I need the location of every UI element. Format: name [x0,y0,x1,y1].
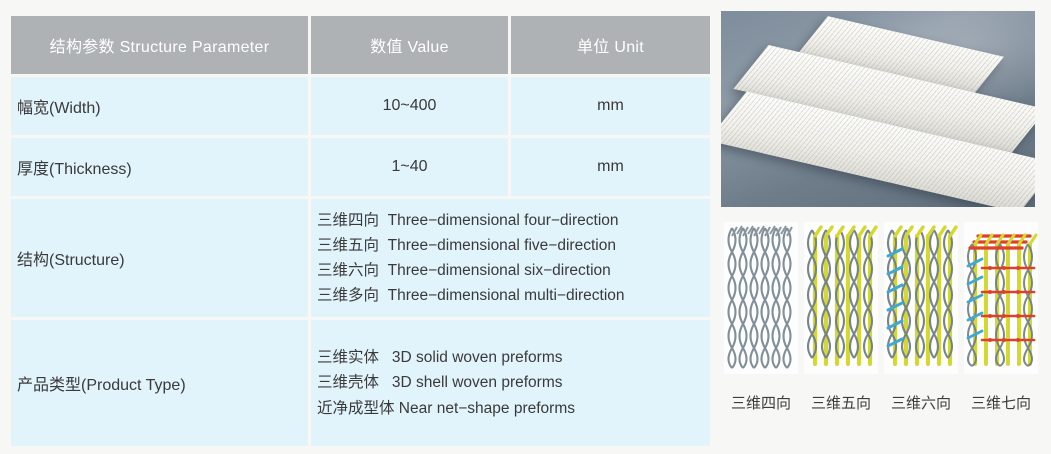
product-option-shell: 三维壳体 3D shell woven preforms [317,370,704,395]
product-option-solid: 三维实体 3D solid woven preforms [317,345,704,370]
braid-diagram-row [718,222,1051,377]
braid-diagram-six-direction [884,222,958,374]
cell-parameter-thickness: 厚度(Thickness) [11,138,308,196]
braid-illustration-icon [724,222,798,374]
product-option-near-net: 近净成型体 Near net−shape preforms [317,396,704,421]
cell-value-width: 10~400 [311,77,508,135]
table-header-row: 结构参数 Structure Parameter 数值 Value 单位 Uni… [11,16,710,74]
structure-option-multi-direction: 三维多向 Three−dimensional multi−direction [317,283,704,308]
structure-option-four-direction: 三维四向 Three−dimensional four−direction [317,208,704,233]
table-row-structure: 结构(Structure) 三维四向 Three−dimensional fou… [11,199,710,317]
braid-diagram-seven-direction [964,222,1038,374]
structure-parameter-table: 结构参数 Structure Parameter 数值 Value 单位 Uni… [8,13,713,449]
caption-seven-direction: 三维七向 [961,392,1041,413]
cell-unit-width: mm [511,77,710,135]
cell-value-structure: 三维四向 Three−dimensional four−direction 三维… [311,199,710,317]
header-structure-parameter: 结构参数 Structure Parameter [11,16,308,74]
caption-four-direction: 三维四向 [721,392,801,413]
braid-diagram-four-direction [724,222,798,374]
cell-parameter-width: 幅宽(Width) [11,77,308,135]
braid-illustration-icon [964,222,1038,374]
braid-illustration-icon [804,222,878,374]
caption-five-direction: 三维五向 [801,392,881,413]
cell-value-product-type: 三维实体 3D solid woven preforms 三维壳体 3D she… [311,320,710,446]
header-unit: 单位 Unit [511,16,710,74]
media-column: 三维四向 三维五向 三维六向 三维七向 [718,0,1051,454]
caption-six-direction: 三维六向 [881,392,961,413]
structure-option-six-direction: 三维六向 Three−dimensional six−direction [317,258,704,283]
header-value: 数值 Value [311,16,508,74]
cell-unit-thickness: mm [511,138,710,196]
cell-value-thickness: 1~40 [311,138,508,196]
structure-option-five-direction: 三维五向 Three−dimensional five−direction [317,233,704,258]
table-row-thickness: 厚度(Thickness) 1~40 mm [11,138,710,196]
cell-parameter-structure: 结构(Structure) [11,199,308,317]
table-row-width: 幅宽(Width) 10~400 mm [11,77,710,135]
spec-sheet-page: 结构参数 Structure Parameter 数值 Value 单位 Uni… [0,0,1051,454]
braid-caption-row: 三维四向 三维五向 三维六向 三维七向 [718,392,1051,422]
braid-diagram-five-direction [804,222,878,374]
cell-parameter-product-type: 产品类型(Product Type) [11,320,308,446]
table-row-product-type: 产品类型(Product Type) 三维实体 3D solid woven p… [11,320,710,446]
woven-preform-photo [721,11,1035,207]
braid-illustration-icon [884,222,958,374]
